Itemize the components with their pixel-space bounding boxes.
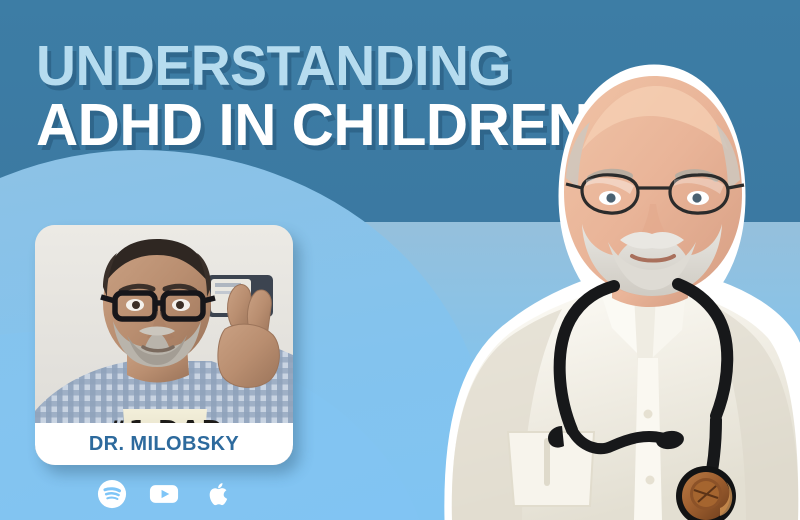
- youtube-icon[interactable]: [149, 479, 179, 509]
- guest-name-label: DR. MILOBSKY: [35, 423, 293, 465]
- guest-thumbnail-card[interactable]: #1 DAD DR. MILOBSKY: [35, 225, 293, 465]
- guest-name-text: DR. MILOBSKY: [89, 433, 239, 456]
- platform-links: [35, 474, 293, 514]
- apple-podcasts-icon[interactable]: [201, 479, 231, 509]
- spotify-icon[interactable]: [97, 479, 127, 509]
- host-photo: [386, 28, 800, 520]
- podcast-episode-banner: UNDERSTANDING ADHD IN CHILDREN: [0, 0, 800, 520]
